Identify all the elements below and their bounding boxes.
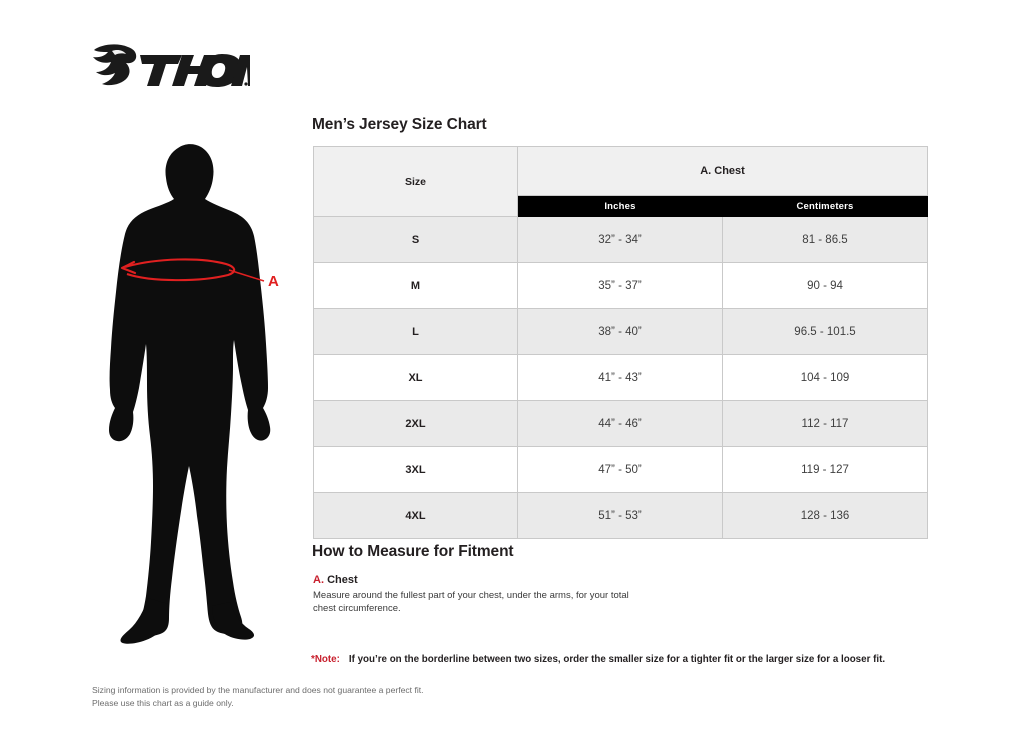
table-header-row-group: Size A. Chest: [314, 147, 928, 196]
column-header-inches: Inches: [518, 196, 723, 217]
disclaimer: Sizing information is provided by the ma…: [92, 684, 424, 711]
registered-trademark-icon: [244, 82, 247, 85]
cell-centimeters: 119 - 127: [723, 447, 928, 493]
cell-size: 3XL: [314, 447, 518, 493]
cell-inches: 51” - 53”: [518, 493, 723, 539]
howto-block: A. Chest Measure around the fullest part…: [313, 574, 643, 616]
size-chart-table: Size A. Chest Inches Centimeters S 32” -…: [313, 146, 928, 539]
howto-label: A. Chest: [313, 574, 643, 586]
table-row: S 32” - 34” 81 - 86.5: [314, 217, 928, 263]
cell-size: L: [314, 309, 518, 355]
cell-inches: 44” - 46”: [518, 401, 723, 447]
cell-centimeters: 81 - 86.5: [723, 217, 928, 263]
table-row: 3XL 47” - 50” 119 - 127: [314, 447, 928, 493]
table-row: 2XL 44” - 46” 112 - 117: [314, 401, 928, 447]
howto-heading: How to Measure for Fitment: [312, 543, 514, 561]
cell-size: S: [314, 217, 518, 263]
cell-centimeters: 128 - 136: [723, 493, 928, 539]
helmet-mark-icon: [93, 44, 136, 85]
howto-marker: A.: [313, 574, 324, 586]
cell-centimeters: 112 - 117: [723, 401, 928, 447]
cell-size: M: [314, 263, 518, 309]
disclaimer-line-2: Please use this chart as a guide only.: [92, 697, 424, 710]
male-silhouette-icon: [109, 144, 270, 644]
column-header-centimeters: Centimeters: [723, 196, 928, 217]
table-row: XL 41” - 43” 104 - 109: [314, 355, 928, 401]
cell-size: 4XL: [314, 493, 518, 539]
howto-label-text: Chest: [327, 574, 358, 586]
cell-size: 2XL: [314, 401, 518, 447]
table-row: L 38” - 40” 96.5 - 101.5: [314, 309, 928, 355]
cell-inches: 35” - 37”: [518, 263, 723, 309]
note-line: *Note:If you’re on the borderline betwee…: [311, 654, 885, 665]
cell-inches: 32” - 34”: [518, 217, 723, 263]
table-row: 4XL 51” - 53” 128 - 136: [314, 493, 928, 539]
thor-wordmark: [140, 54, 250, 87]
page-title: Men’s Jersey Size Chart: [312, 116, 487, 134]
thor-logo: [90, 42, 250, 94]
table-row: M 35” - 37” 90 - 94: [314, 263, 928, 309]
note-tag: *Note:: [311, 654, 340, 665]
measurement-figure: A: [96, 140, 306, 645]
measure-label-a: A: [268, 273, 279, 290]
cell-inches: 38” - 40”: [518, 309, 723, 355]
note-text: If you’re on the borderline between two …: [349, 654, 885, 665]
column-header-chest-group: A. Chest: [518, 147, 928, 196]
cell-inches: 47” - 50”: [518, 447, 723, 493]
cell-inches: 41” - 43”: [518, 355, 723, 401]
howto-description: Measure around the fullest part of your …: [313, 589, 643, 616]
column-header-size: Size: [314, 147, 518, 217]
cell-centimeters: 90 - 94: [723, 263, 928, 309]
cell-size: XL: [314, 355, 518, 401]
cell-centimeters: 96.5 - 101.5: [723, 309, 928, 355]
disclaimer-line-1: Sizing information is provided by the ma…: [92, 684, 424, 697]
cell-centimeters: 104 - 109: [723, 355, 928, 401]
